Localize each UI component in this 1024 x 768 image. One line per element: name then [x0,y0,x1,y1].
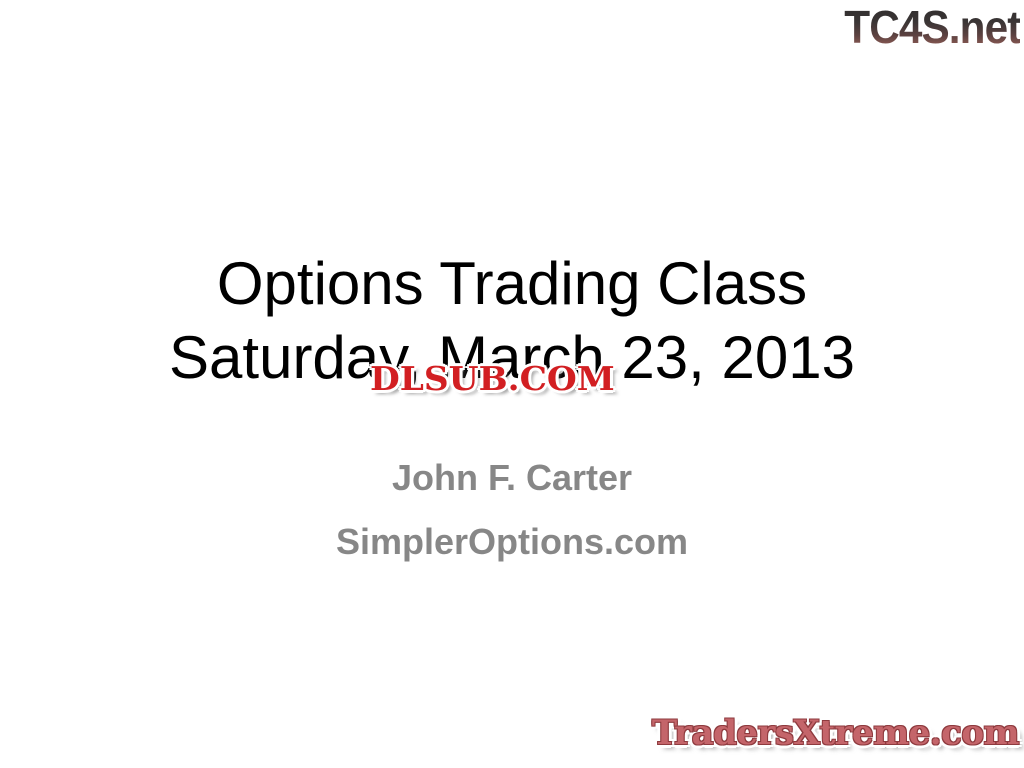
tradersxtreme-logo: TradersXtreme.com [652,712,1019,754]
tc4s-logo: TC4S.net [844,2,1020,52]
presenter-website: SimplerOptions.com [0,510,1024,574]
dlsub-watermark: DLSUB.COM [370,359,615,399]
presentation-slide: TC4S.net Options Trading Class Saturday,… [0,0,1024,768]
title-line-1: Options Trading Class [0,247,1024,321]
slide-subtitle: John F. Carter SimplerOptions.com [0,446,1024,574]
presenter-name: John F. Carter [0,446,1024,510]
